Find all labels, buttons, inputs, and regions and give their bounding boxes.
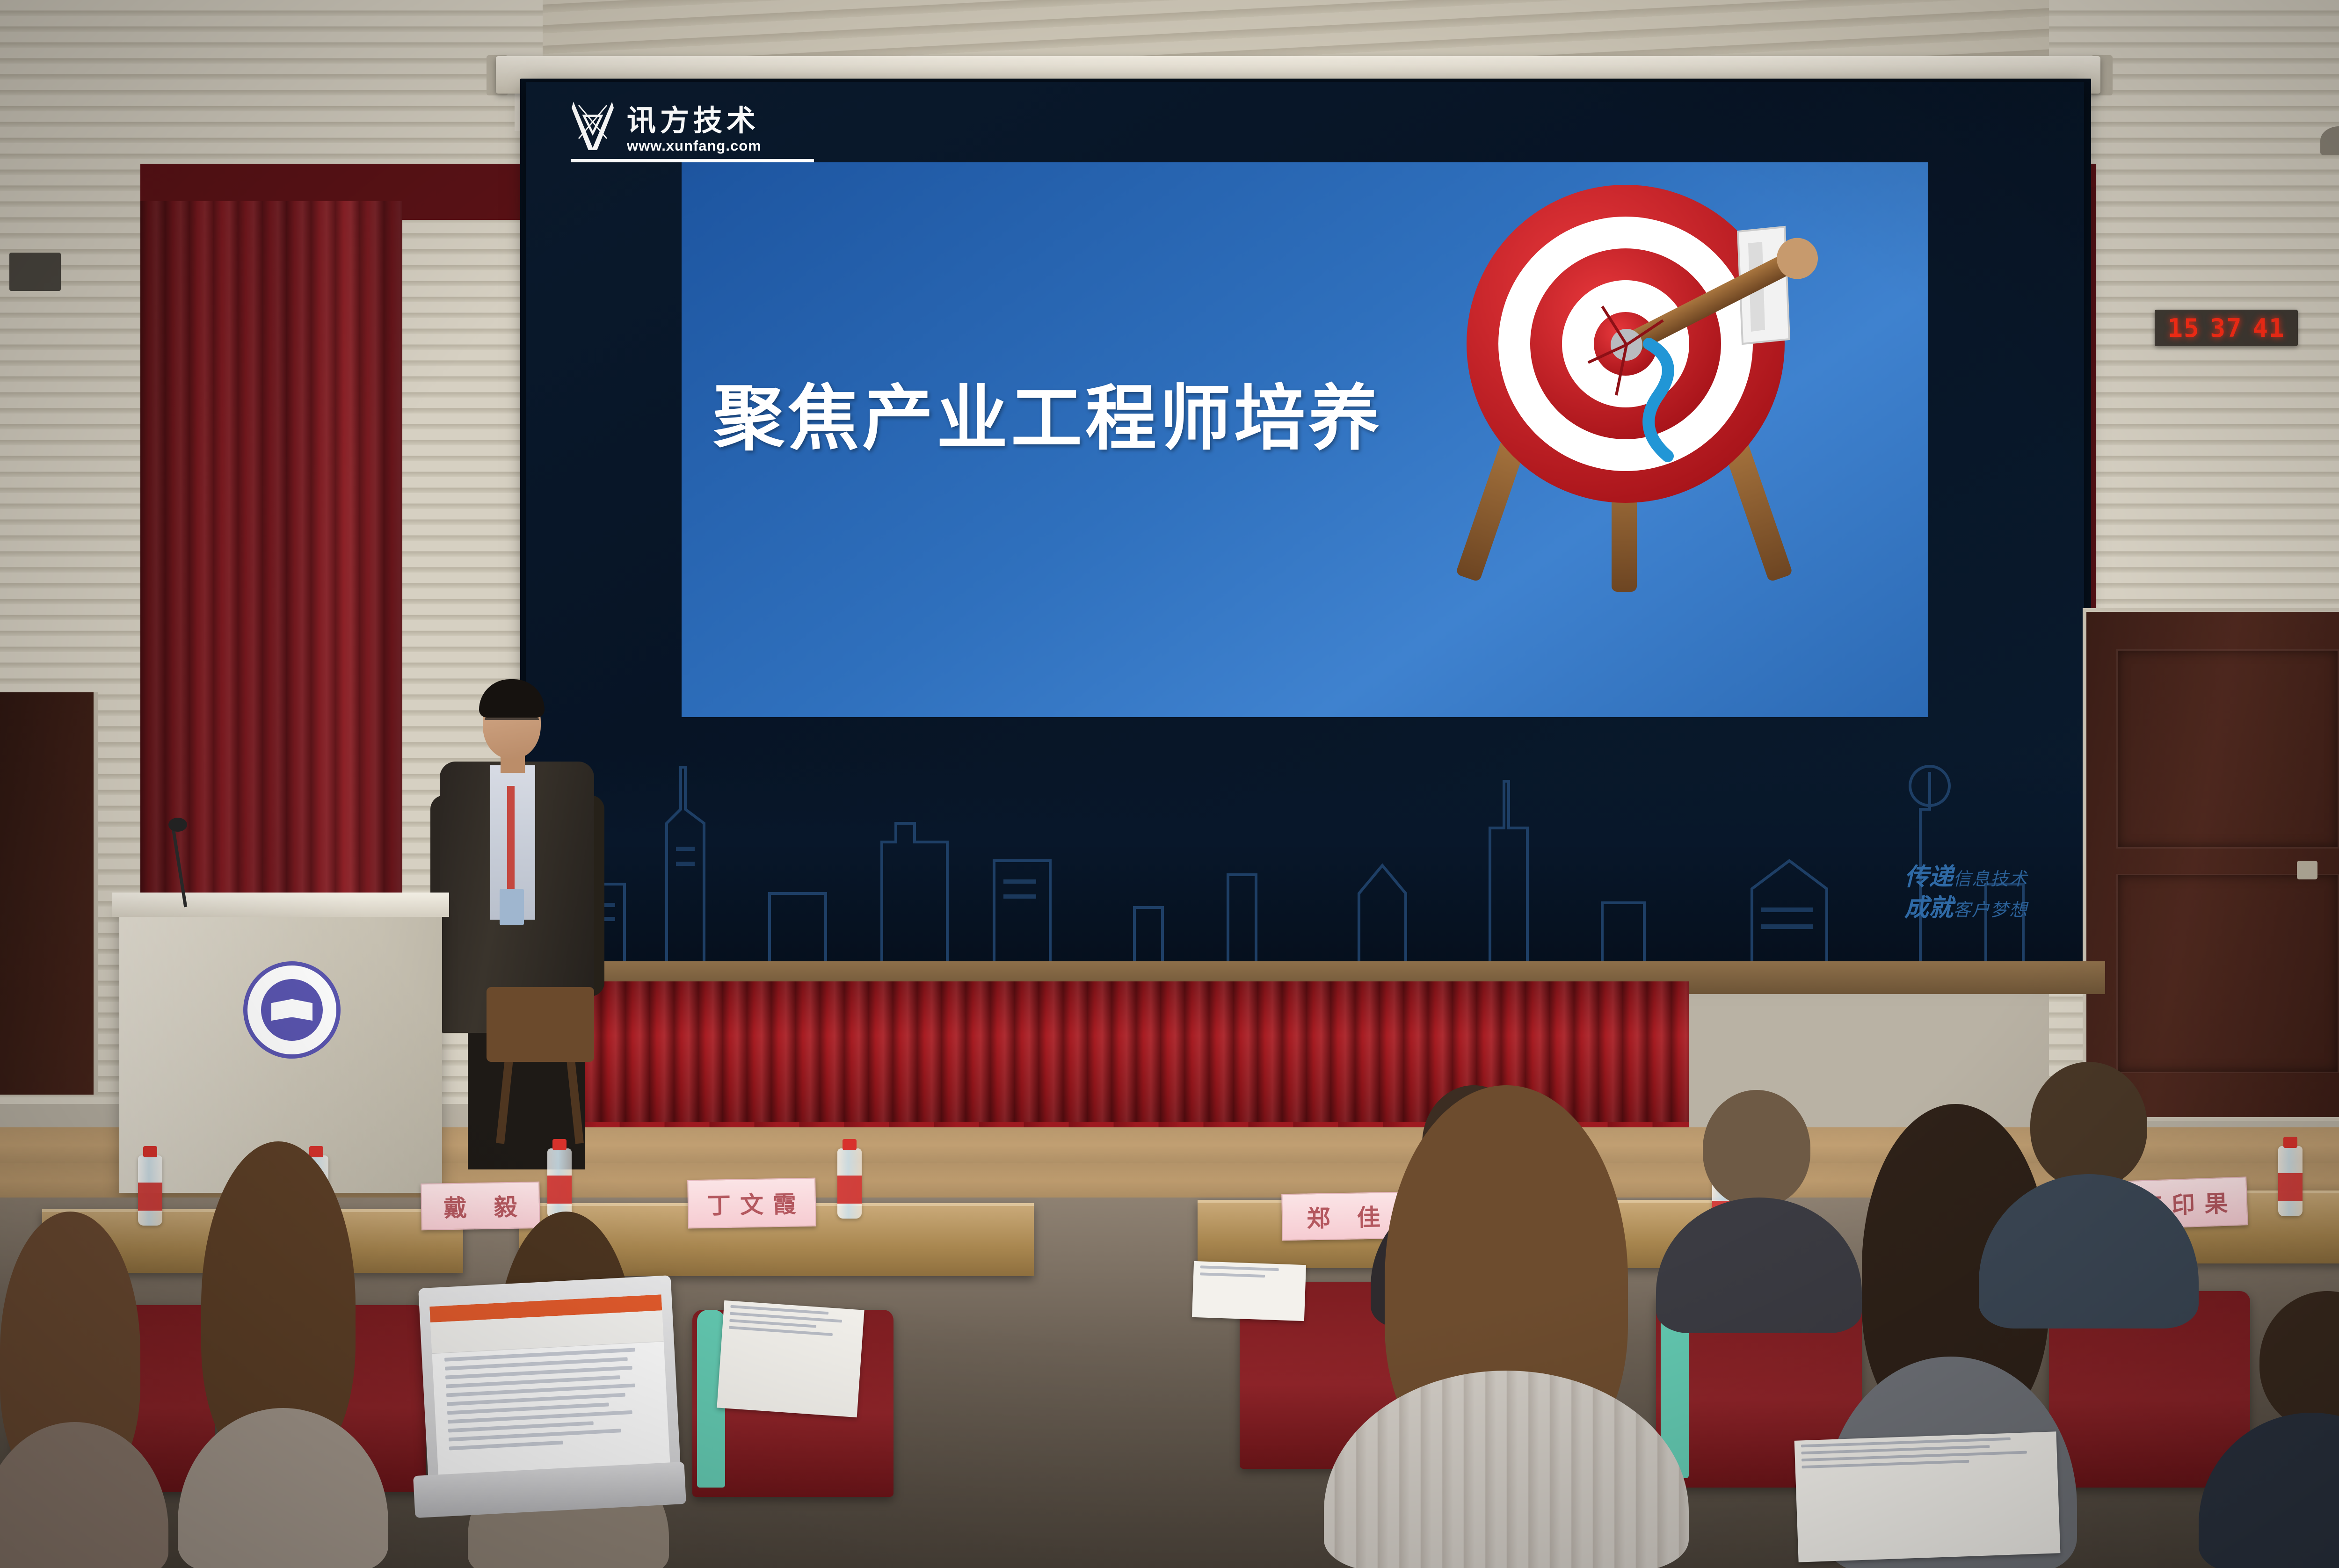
water-bottle [2278,1146,2303,1216]
clock-hours: 15 [2167,313,2200,343]
side-door-left[interactable] [0,692,98,1095]
door-panel-upper [2116,649,2339,849]
clock-minutes: 37 [2210,313,2242,343]
lanyard-name-badge-icon [507,786,515,903]
presenter-badge [500,889,524,925]
brand-name-cn: 讯方技术 [627,106,762,135]
door-panel-lower [2116,874,2339,1073]
lectern-top-surface [112,893,449,917]
clock-seconds: 41 [2253,313,2285,343]
university-crest-icon [243,961,341,1059]
open-book-icon [271,999,312,1021]
slogan-line2-bold: 成就 [1904,894,1953,922]
projection-screen: 讯方技术 www.xunfang.com 聚焦产业工程师培养 [526,82,2084,973]
handout-paper [1794,1431,2061,1562]
brand-underline [571,159,814,162]
name-placard: 戴 毅 [421,1182,540,1230]
eyeglasses-icon [485,718,539,729]
water-bottle [547,1148,572,1219]
city-skyline-outline-icon [526,753,2084,973]
microphone-head [168,818,187,832]
brand-slogan: 传递信息技术 成就客户梦想 [1904,862,2028,924]
handout-paper [717,1300,864,1417]
archery-target-with-arrow-icon [1415,143,1836,610]
slogan-line1-rest: 信息技术 [1953,869,2028,889]
brand-logo: 讯方技术 www.xunfang.com [571,98,814,162]
handout-paper [1192,1261,1306,1321]
slogan-line1-bold: 传递 [1904,863,1953,891]
xunfang-crossed-arrows-mark-icon [571,98,615,154]
name-placard: 丁文霞 [687,1178,816,1229]
stage-stool [487,987,594,1062]
lecture-hall-photo: 讯方技术 www.xunfang.com 聚焦产业工程师培养 [0,0,2339,1568]
led-wall-clock: 15 37 41 [2155,310,2298,346]
laptop-screen [429,1294,670,1474]
laptop[interactable] [418,1275,681,1489]
door-handle-icon[interactable] [2297,861,2317,879]
water-bottle [138,1155,162,1226]
wall-fixture-icon [9,253,61,291]
water-bottle [837,1148,862,1219]
document-body [432,1342,669,1461]
crest-inner [261,979,323,1041]
brand-url: www.xunfang.com [627,138,762,154]
slogan-line2-rest: 客户梦想 [1953,900,2028,920]
